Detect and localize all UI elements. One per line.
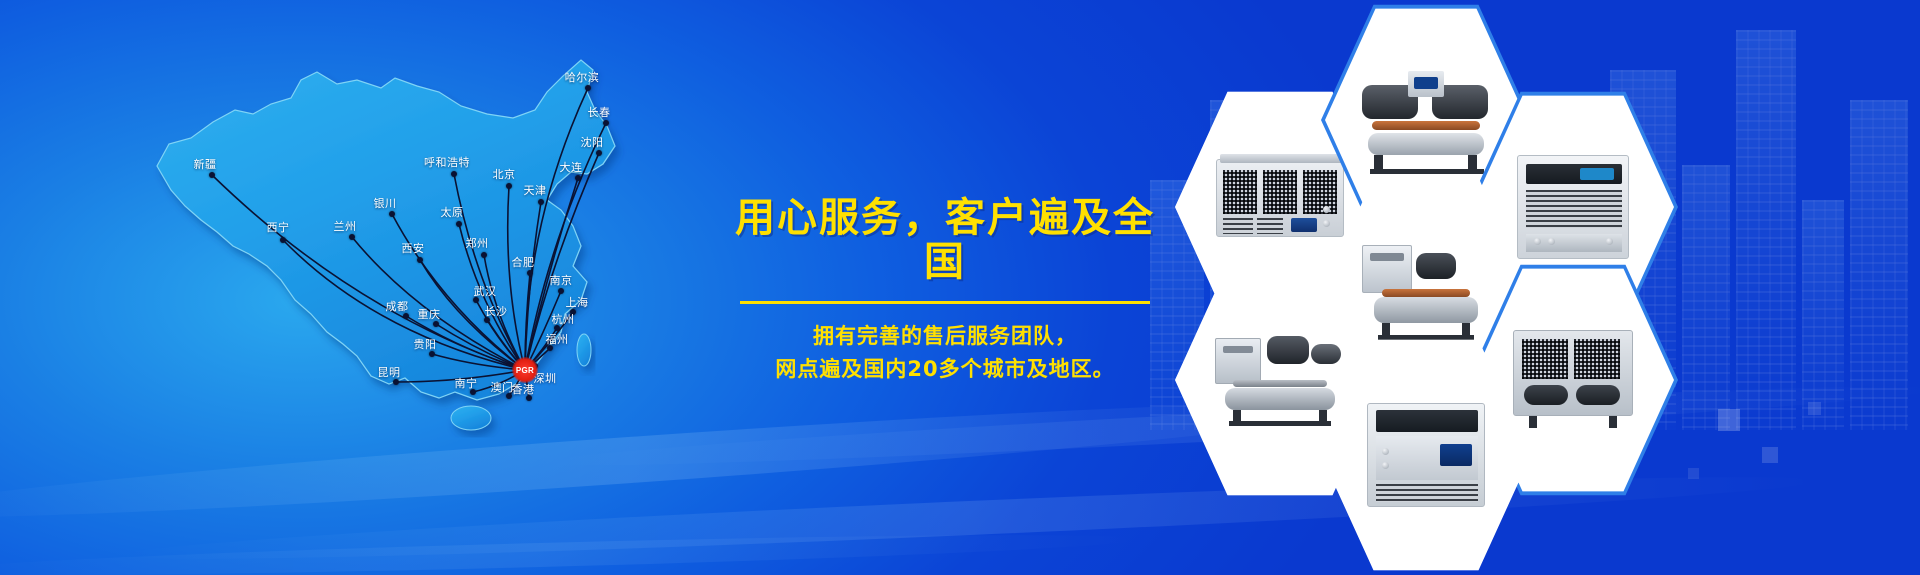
map-city-label-zhengzhou: 郑州 [466, 235, 489, 251]
map-city-label-harbin: 哈尔滨 [565, 69, 600, 85]
map-node [349, 234, 355, 240]
map-city-label-hongkong: 香港 [512, 381, 535, 397]
subtitle-line-2: 网点遍及国内20多个城市及地区。 [735, 353, 1155, 386]
map-city-label-tianjin: 天津 [524, 182, 547, 198]
map-city-label-shanghai: 上海 [566, 294, 589, 310]
map-city-label-xinjiang: 新疆 [194, 156, 217, 172]
map-city-label-lanzhou: 兰州 [334, 218, 357, 234]
product-hexagon-gallery [1175, 0, 1920, 575]
map-city-label-macau: 澳门 [491, 379, 514, 395]
map-node [603, 120, 609, 126]
hub-label: PGR [512, 357, 538, 383]
map-city-label-guiyang: 贵阳 [414, 336, 437, 352]
map-city-label-chongqing: 重庆 [418, 306, 441, 322]
map-node [596, 150, 602, 156]
map-node [456, 221, 462, 227]
map-city-label-wuhan: 武汉 [474, 283, 497, 299]
map-city-label-nanjing: 南京 [550, 272, 573, 288]
map-city-label-taiyuan: 太原 [441, 204, 464, 220]
product-hex-cabinet-water-chiller[interactable] [1321, 335, 1531, 575]
map-node [585, 85, 591, 91]
headline: 用心服务，客户遍及全国 [735, 196, 1155, 284]
product-image-cabinet-water-chiller [1367, 403, 1485, 507]
map-city-label-kunming: 昆明 [378, 364, 401, 380]
map-city-label-xian: 西安 [402, 240, 425, 256]
map-city-label-fuzhou: 福州 [546, 331, 569, 347]
map-city-label-dalian: 大连 [560, 159, 583, 175]
map-node [538, 199, 544, 205]
map-node [506, 183, 512, 189]
map-node [417, 257, 423, 263]
map-city-label-hefei: 合肥 [512, 254, 535, 270]
map-node [451, 171, 457, 177]
map-city-label-changsha: 长沙 [485, 303, 508, 319]
map-city-label-nanning: 南宁 [455, 375, 478, 391]
map-node [558, 288, 564, 294]
map-city-label-changchun: 长春 [588, 104, 611, 120]
headline-divider [740, 301, 1150, 304]
promo-copy-block: 用心服务，客户遍及全国 拥有完善的售后服务团队， 网点遍及国内20多个城市及地区… [735, 196, 1155, 385]
map-city-label-yinchuan: 银川 [374, 195, 397, 211]
map-city-label-hohhot: 呼和浩特 [424, 154, 470, 170]
hainan-island-shape [451, 406, 491, 430]
map-node [481, 252, 487, 258]
china-distribution-map: 新疆 西宁 兰州 银川 呼和浩特 北京 天津 太原 郑州 西安 合肥 南京 上海… [95, 14, 735, 444]
headquarters-hub-marker: PGR [512, 357, 538, 383]
map-node [209, 172, 215, 178]
subtitle-line-1: 拥有完善的售后服务团队， [735, 320, 1155, 353]
map-node [527, 270, 533, 276]
map-node [280, 237, 286, 243]
map-node [575, 175, 581, 181]
promo-banner: 新疆 西宁 兰州 银川 呼和浩特 北京 天津 太原 郑州 西安 合肥 南京 上海… [0, 0, 1920, 575]
map-city-label-xining: 西宁 [267, 219, 290, 235]
map-node [389, 211, 395, 217]
map-svg [95, 14, 735, 444]
map-city-label-beijing: 北京 [493, 166, 516, 182]
map-city-label-shenyang: 沈阳 [581, 134, 604, 150]
taiwan-island-shape [577, 334, 591, 366]
product-image-industrial-air-cooled-chiller [1517, 155, 1629, 259]
map-city-label-chengdu: 成都 [386, 298, 409, 314]
map-city-label-hangzhou: 杭州 [552, 311, 575, 327]
product-image-evaporative-condenser [1513, 330, 1633, 430]
